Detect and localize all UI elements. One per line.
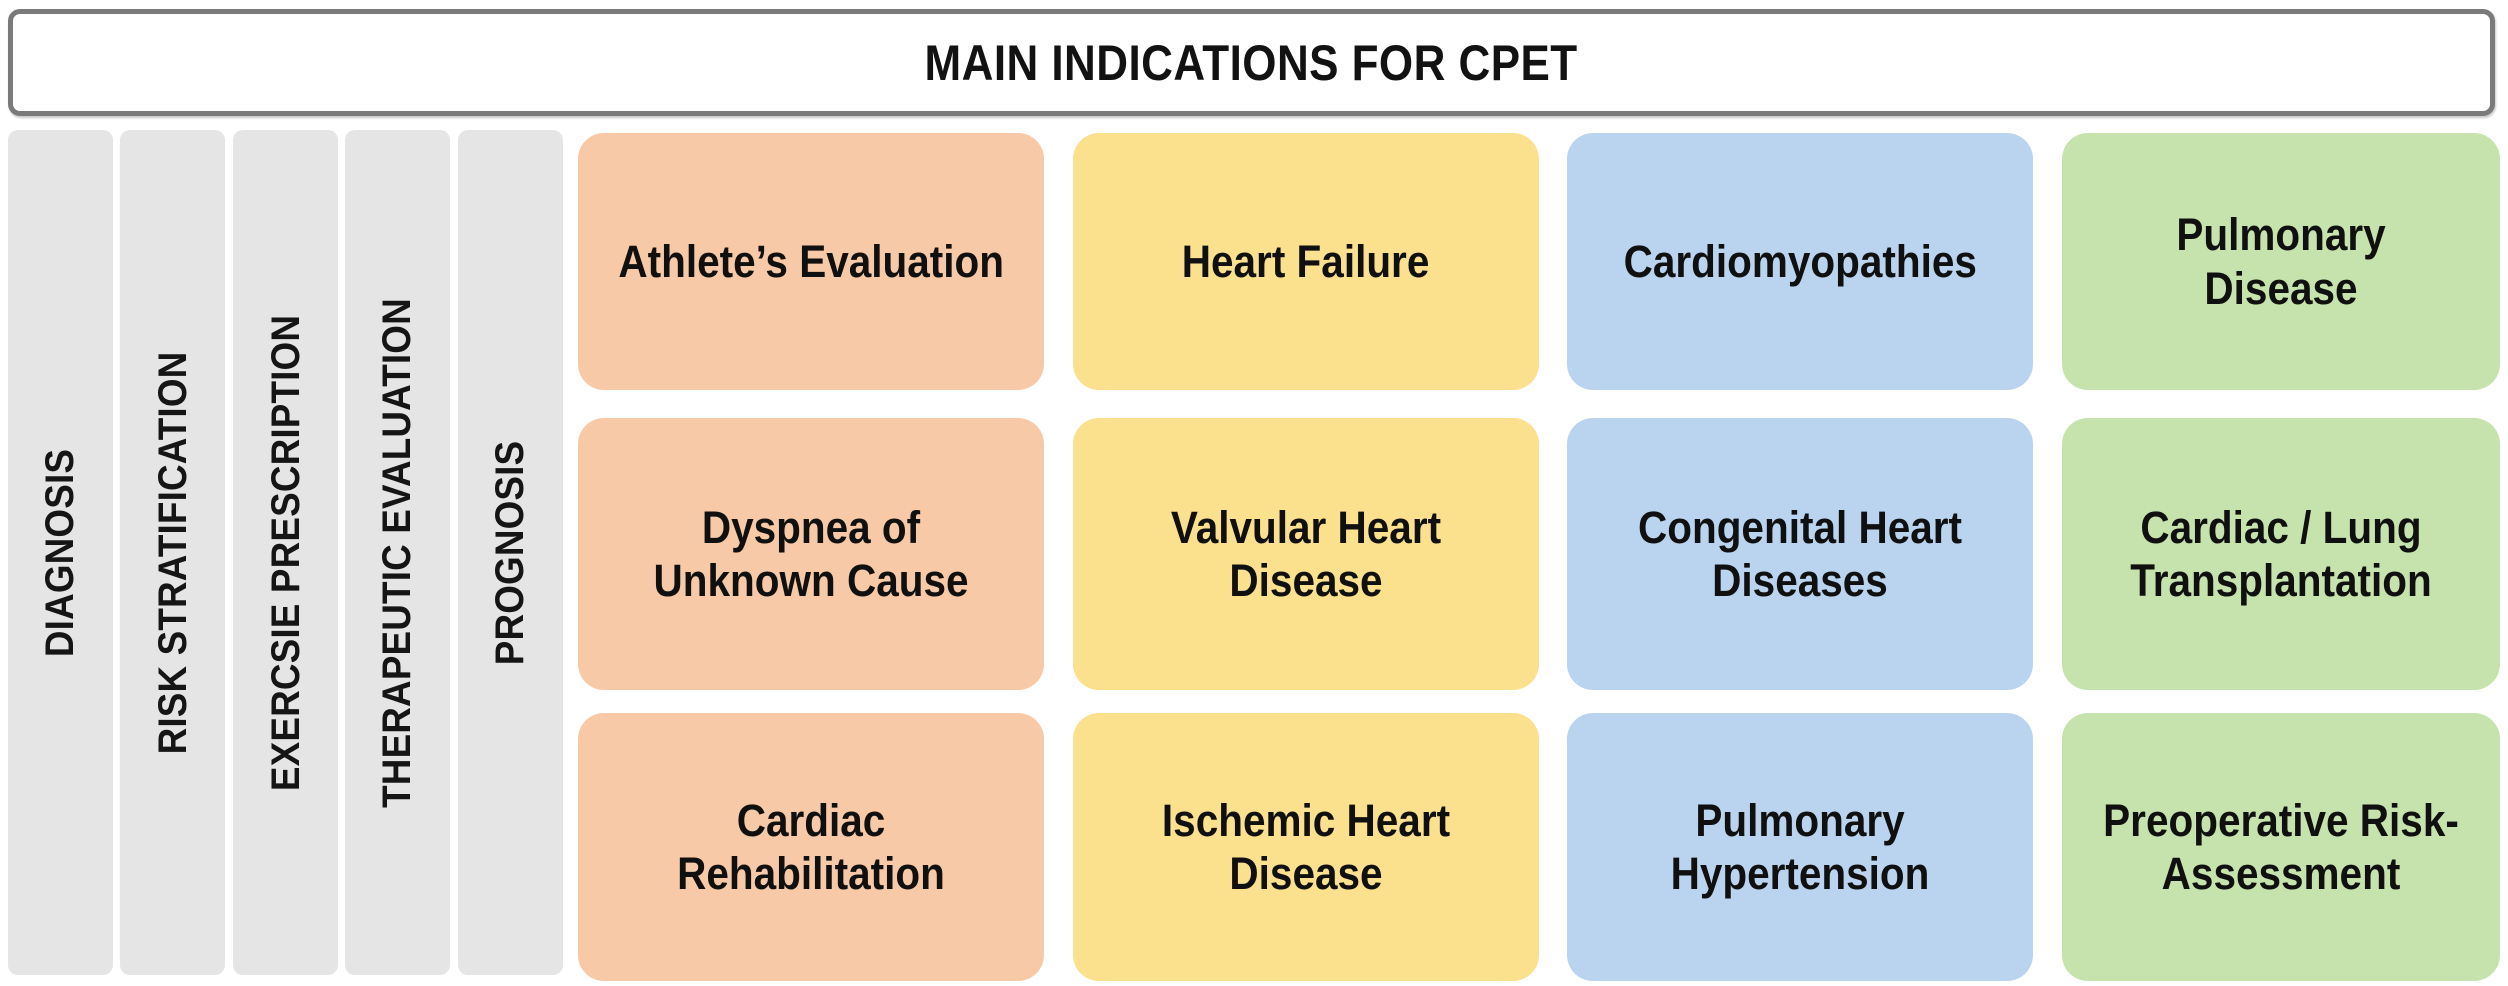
figure-title-banner: MAIN INDICATIONS FOR CPET (8, 9, 2495, 116)
indication-card: Dyspnea of Unknown Cause (578, 418, 1044, 690)
indication-card: Ischemic Heart Disease (1073, 713, 1539, 981)
indication-card: Cardiac Rehabilitation (578, 713, 1044, 981)
indication-card: Heart Failure (1073, 133, 1539, 390)
indication-card: Pulmonary Hypertension (1567, 713, 2033, 981)
indication-label: Heart Failure (1182, 235, 1430, 288)
category-column-risk-stratification: RISK STRATIFICATION (120, 130, 225, 975)
indication-card: Preoperative Risk-Assessment (2062, 713, 2500, 981)
indication-label: Cardiomyopathies (1623, 235, 1976, 288)
category-column-therapeutic-evaluation: THERAPEUTIC EVALUATION (345, 130, 450, 975)
indication-label: Preoperative Risk-Assessment (2100, 794, 2462, 900)
indication-label: Cardiac / Lung Transplantation (2100, 501, 2462, 607)
category-label: RISK STRATIFICATION (153, 351, 193, 754)
indication-label: Congenital Heart Diseases (1607, 501, 1994, 607)
indication-label: Valvular Heart Disease (1113, 501, 1500, 607)
indication-label: Pulmonary Hypertension (1607, 794, 1994, 900)
indication-card: Cardiomyopathies (1567, 133, 2033, 390)
indication-label: Pulmonary Disease (2100, 208, 2462, 314)
indication-card: Valvular Heart Disease (1073, 418, 1539, 690)
category-column-exercise-prescription: EXERCSIE PRESCRIPTION (233, 130, 338, 975)
category-column-diagnosis: DIAGNOSIS (8, 130, 113, 975)
indication-label: Cardiac Rehabilitation (618, 794, 1005, 900)
indication-card: Athlete’s Evaluation (578, 133, 1044, 390)
figure-title: MAIN INDICATIONS FOR CPET (925, 34, 1578, 92)
category-label: PROGNOSIS (491, 440, 531, 665)
category-label: EXERCSIE PRESCRIPTION (266, 314, 306, 790)
indication-label: Dyspnea of Unknown Cause (618, 501, 1005, 607)
cpet-indications-figure: MAIN INDICATIONS FOR CPET DIAGNOSIS RISK… (0, 0, 2508, 986)
indication-label: Ischemic Heart Disease (1113, 794, 1500, 900)
indication-label: Athlete’s Evaluation (618, 235, 1004, 288)
category-label: DIAGNOSIS (41, 448, 81, 656)
category-column-prognosis: PROGNOSIS (458, 130, 563, 975)
indication-card: Cardiac / Lung Transplantation (2062, 418, 2500, 690)
indication-card: Pulmonary Disease (2062, 133, 2500, 390)
indication-card: Congenital Heart Diseases (1567, 418, 2033, 690)
category-label: THERAPEUTIC EVALUATION (378, 298, 418, 808)
